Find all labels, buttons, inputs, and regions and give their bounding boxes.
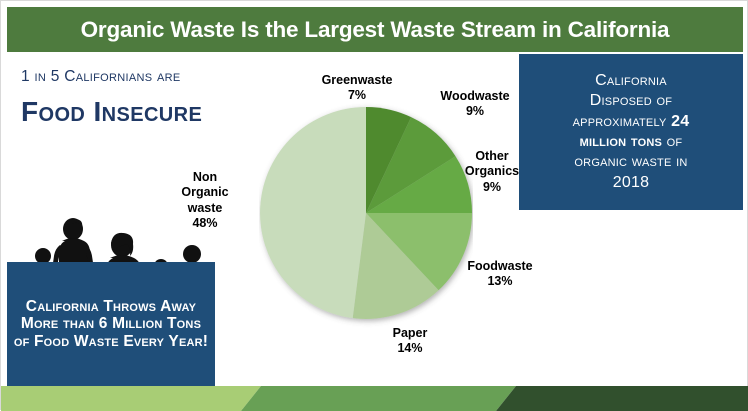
food-waste-statement-box: California Throws Away More than 6 Milli… — [7, 262, 215, 386]
disposed-line-5: organic waste in — [574, 153, 687, 170]
pie-label-woodwaste-name: Woodwaste — [440, 89, 509, 103]
pie-label-paper: Paper 14% — [393, 326, 428, 357]
band-light — [1, 386, 261, 411]
pie-label-woodwaste: Woodwaste 9% — [440, 89, 509, 120]
food-waste-statement-text: California Throws Away More than 6 Milli… — [13, 298, 209, 351]
pie-label-paper-name: Paper — [393, 326, 428, 340]
pie-label-foodwaste: Foodwaste 13% — [467, 259, 532, 290]
waste-composition-pie-chart — [259, 87, 473, 339]
band-medium — [241, 386, 516, 411]
pie-label-greenwaste: Greenwaste 7% — [322, 73, 393, 104]
pie-label-foodwaste-value: 13% — [487, 274, 512, 288]
pie-label-greenwaste-name: Greenwaste — [322, 73, 393, 87]
header-banner: Organic Waste Is the Largest Waste Strea… — [7, 7, 743, 52]
page-title: Organic Waste Is the Largest Waste Strea… — [81, 17, 670, 43]
pie-label-other-organics-name-2: Organics — [465, 164, 519, 178]
disposed-line-2: Disposed of — [590, 92, 672, 109]
pie-label-other-organics: Other Organics 9% — [465, 149, 519, 195]
pie-label-other-organics-name-1: Other — [475, 149, 508, 163]
bottom-decorative-bands — [1, 386, 748, 411]
disposed-line-3-prefix: approximately — [573, 113, 672, 130]
pie-label-non-organic-value: 48% — [192, 216, 217, 230]
pie-label-non-organic-waste: Non Organic waste 48% — [181, 170, 228, 231]
disposed-tons-unit: million tons — [580, 133, 662, 150]
pie-label-non-organic-name-2: Organic — [181, 185, 228, 199]
pie-label-non-organic-name-3: waste — [188, 201, 223, 215]
infographic-root: Organic Waste Is the Largest Waste Strea… — [0, 0, 748, 410]
pie-label-foodwaste-name: Foodwaste — [467, 259, 532, 273]
pie-label-greenwaste-value: 7% — [348, 88, 366, 102]
band-dark — [496, 386, 748, 411]
food-insecure-headline: Food Insecure — [21, 96, 202, 128]
pie-label-woodwaste-value: 9% — [466, 104, 484, 118]
disposed-statement-text: California Disposed of approximately 24 … — [573, 71, 690, 194]
disposed-line-1: California — [595, 72, 667, 89]
pie-label-paper-value: 14% — [397, 341, 422, 355]
disposed-year: 2018 — [613, 174, 649, 191]
pie-label-non-organic-name-1: Non — [193, 170, 217, 184]
food-insecure-subtitle: 1 in 5 Californians are — [21, 68, 181, 86]
disposed-tons-number: 24 — [671, 113, 689, 130]
pie-label-other-organics-value: 9% — [483, 180, 501, 194]
pie-slice-non-organic-waste — [260, 107, 366, 318]
disposed-line-4-suffix: of — [662, 133, 682, 150]
disposed-statement-box: California Disposed of approximately 24 … — [519, 54, 743, 210]
